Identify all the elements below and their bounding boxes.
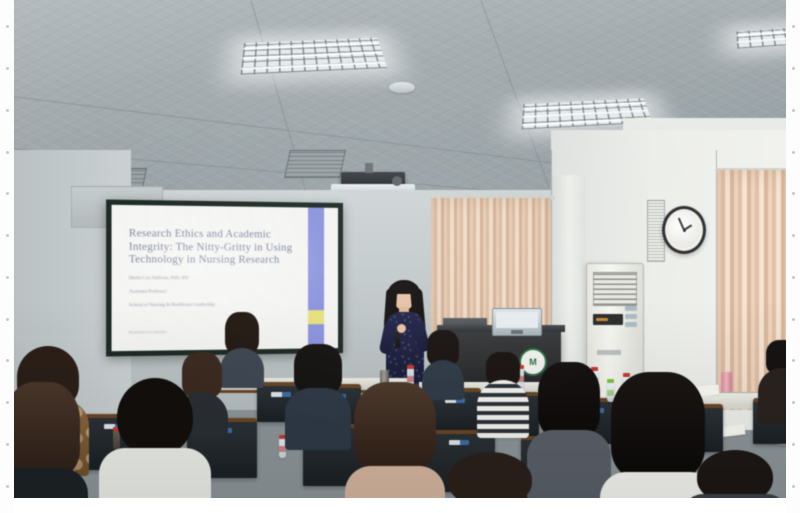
- ac-led-readout: [596, 318, 608, 321]
- border-strip-bottom: [0, 498, 800, 513]
- person-hair: [294, 344, 342, 394]
- perforation-dot: [6, 318, 9, 321]
- perforation-dot: [6, 359, 9, 362]
- audience-member-7: [347, 382, 443, 498]
- person-torso: [99, 448, 211, 498]
- perforation-dot: [6, 109, 9, 112]
- perforation-dot: [792, 276, 795, 279]
- ac-button-group[interactable]: [625, 306, 637, 332]
- audience-member-6: [289, 344, 347, 444]
- person-torso: [345, 466, 445, 498]
- perforation-dot: [792, 318, 795, 321]
- presenter-hand: [397, 324, 406, 333]
- perforation-dot: [6, 192, 9, 195]
- perforation-dot: [6, 276, 9, 279]
- person-hair: [354, 382, 436, 472]
- audience-member-5: [221, 312, 263, 382]
- podium-monitor: [492, 308, 542, 336]
- perforation-dot: [792, 151, 795, 154]
- monitor-screen: [496, 312, 538, 328]
- perforation-dot: [6, 443, 9, 446]
- perforation-dot: [6, 234, 9, 237]
- perforation-dot: [792, 485, 795, 488]
- smoke-detector-icon: [389, 82, 415, 93]
- audience-member-3: [107, 378, 203, 498]
- perforation-dot: [6, 25, 9, 28]
- wall-clock: [662, 206, 706, 254]
- ac-display-panel: [593, 314, 623, 325]
- lecture-hall-photograph: Research Ethics and Academic Integrity: …: [11, 0, 789, 498]
- person-head: [117, 378, 193, 456]
- person-torso: [285, 388, 351, 450]
- person-head: [448, 452, 532, 498]
- perforation-dot: [792, 192, 795, 195]
- audience-member-2: [11, 382, 85, 498]
- person-torso: [220, 348, 264, 388]
- person-torso: [11, 468, 88, 498]
- slide-footer: Presentation for attendees: [129, 330, 167, 335]
- ceiling-projector: [341, 172, 405, 190]
- perforation-dot: [792, 109, 795, 112]
- perforation-dot: [6, 67, 9, 70]
- perforation-dot: [792, 443, 795, 446]
- chair-number-tag: [449, 440, 469, 445]
- perforation-dot: [6, 401, 9, 404]
- slide-presenter-line-3: School of Nursing & Healthcare Leadershi…: [129, 302, 298, 309]
- person-head: [697, 450, 773, 498]
- slide-accent-square: [308, 310, 324, 324]
- clock-center-pin: [683, 229, 686, 232]
- photo-frame: Research Ethics and Academic Integrity: …: [0, 0, 800, 513]
- ac-brand-label: [597, 350, 621, 355]
- slide-accent-bar: [308, 208, 324, 349]
- perforation-dot: [792, 234, 795, 237]
- person-hair: [11, 382, 80, 478]
- person-torso: [758, 368, 789, 424]
- perforation-dot: [792, 401, 795, 404]
- ac-vent-louvers: [593, 272, 637, 306]
- chair-number-tag: [271, 392, 291, 397]
- person-torso: [477, 380, 529, 438]
- pink-cup: [721, 372, 732, 392]
- border-strip-left: [0, 0, 14, 513]
- audience-member-12: [759, 340, 789, 420]
- slide-presenter-line-1: Sheila Cox Sullivan, PhD, RN: [129, 274, 298, 281]
- air-vent-grille-icon: [284, 150, 346, 178]
- person-hair: [538, 362, 600, 438]
- perforation-dot: [792, 25, 795, 28]
- slide-title: Research Ethics and Academic Integrity: …: [129, 228, 298, 267]
- audience-member-13: [687, 450, 783, 498]
- projector-lens-icon: [392, 176, 402, 186]
- perforation-dot: [6, 151, 9, 154]
- perforation-dot: [792, 67, 795, 70]
- perforation-dot: [792, 359, 795, 362]
- slide-body: Research Ethics and Academic Integrity: …: [129, 228, 298, 309]
- perforation-dot: [6, 485, 9, 488]
- monitor-brand-logo: [511, 330, 523, 334]
- projector-mount: [365, 163, 373, 173]
- slide-presenter-line-2: Assistant Professor: [129, 288, 298, 295]
- audience-member-9: [479, 352, 527, 436]
- border-strip-right: [786, 0, 800, 513]
- audience-member-14: [435, 452, 545, 498]
